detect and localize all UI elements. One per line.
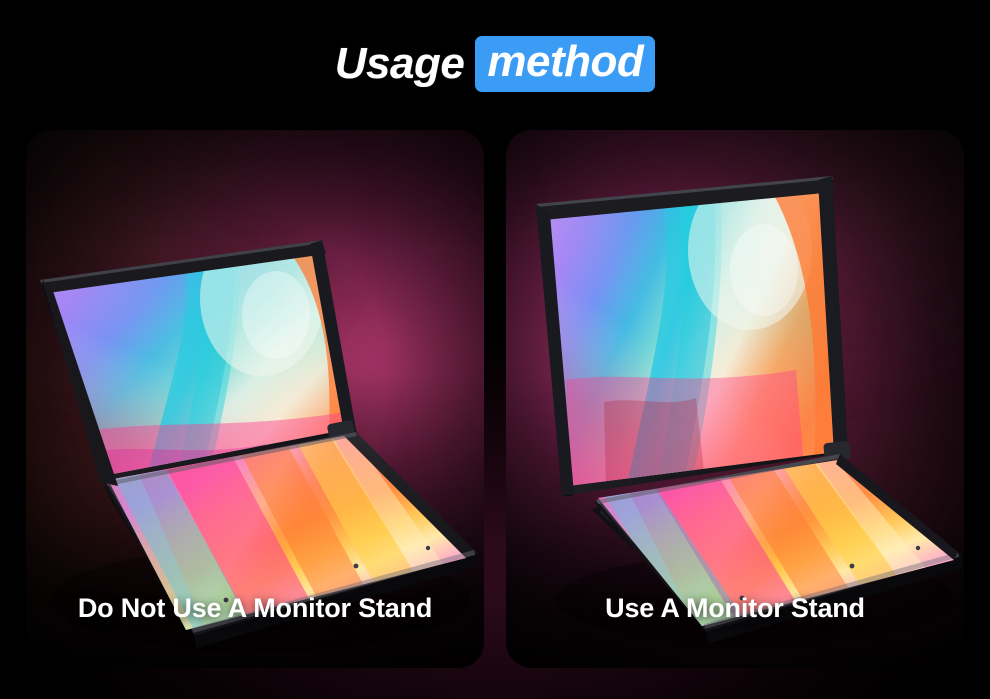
panel-with-stand[interactable]: Use A Monitor Stand — [506, 130, 964, 668]
panel-no-stand[interactable]: Do Not Use A Monitor Stand — [26, 130, 484, 668]
monitor-illustration-stand — [506, 130, 964, 668]
poster-stage: Usage method — [0, 0, 990, 699]
comparison-cards: Do Not Use A Monitor Stand — [26, 130, 964, 668]
monitor-illustration-flat — [26, 130, 484, 668]
page-title: Usage method — [335, 36, 655, 92]
header: Usage method — [0, 0, 990, 128]
page-title-plain: Usage — [335, 42, 476, 86]
panel-caption-no-stand: Do Not Use A Monitor Stand — [26, 593, 484, 624]
panel-caption-with-stand: Use A Monitor Stand — [506, 593, 964, 624]
page-title-highlight: method — [475, 36, 655, 92]
